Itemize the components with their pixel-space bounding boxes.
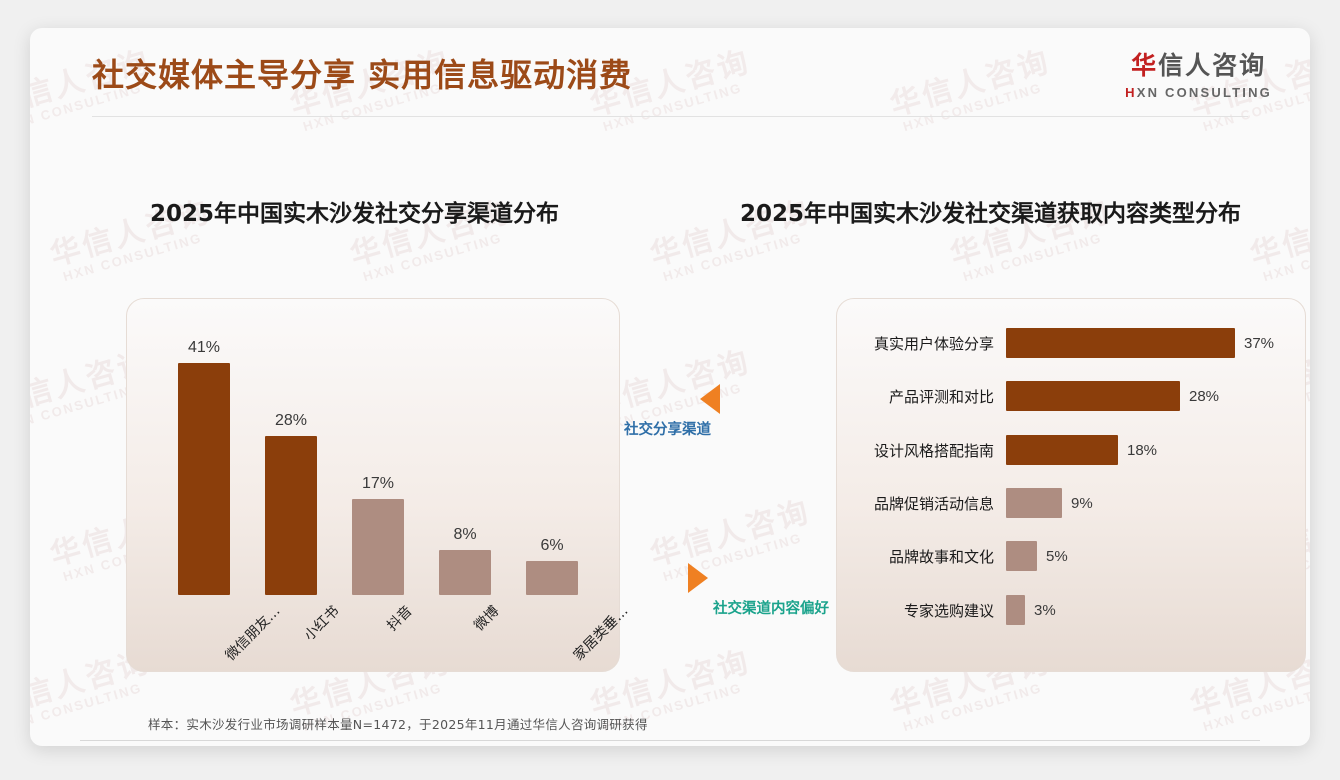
logo-chinese: 华信人咨询 [1125, 46, 1272, 82]
triangle-right-icon [688, 563, 708, 593]
bar-value-label: 5% [1046, 548, 1068, 565]
column-group: 6%家居类垂… [526, 561, 578, 595]
column-bar [352, 499, 404, 595]
header-divider [92, 116, 1248, 117]
column-group: 28%小红书 [265, 436, 317, 595]
horizontal-bar [1006, 595, 1025, 625]
column-group: 41%微信朋友… [178, 363, 230, 595]
bar-value-label: 18% [1127, 442, 1157, 459]
logo-cn-rest: 信人咨询 [1158, 51, 1266, 80]
logo-en-rest: XN CONSULTING [1137, 85, 1272, 100]
horizontal-bar [1006, 381, 1180, 411]
annotation-social-share-channel-label: 社交分享渠道 [618, 418, 828, 439]
bar-category-label: 品牌促销活动信息 [836, 493, 1006, 514]
column-group: 8%微博 [439, 550, 491, 595]
bar-row: 专家选购建议3% [836, 591, 1304, 629]
company-logo: 华信人咨询 HXN CONSULTING [1125, 46, 1272, 100]
logo-en-red: H [1125, 85, 1137, 100]
logo-english: HXN CONSULTING [1125, 85, 1272, 100]
horizontal-bar [1006, 435, 1118, 465]
horizontal-bar [1006, 488, 1062, 518]
bar-row: 真实用户体验分享37% [836, 324, 1304, 362]
annotation-content-preference-label: 社交渠道内容偏好 [618, 597, 833, 618]
column-bar [526, 561, 578, 595]
page-title: 社交媒体主导分享 实用信息驱动消费 [92, 50, 632, 96]
column-category-label: 微信朋友… [221, 601, 285, 665]
bar-value-label: 9% [1071, 495, 1093, 512]
column-bar [178, 363, 230, 595]
watermark-text: 华信人咨询HXN CONSULTING [1247, 196, 1310, 285]
left-column-chart: 41%微信朋友…28%小红书17%抖音8%微博6%家居类垂… [126, 298, 618, 670]
bar-value-label: 37% [1244, 335, 1274, 352]
bar-value-label: 28% [1189, 388, 1219, 405]
right-bar-chart: 真实用户体验分享37%产品评测和对比28%设计风格搭配指南18%品牌促销活动信息… [836, 298, 1304, 670]
annotation-social-share-channel: 社交分享渠道 [618, 384, 828, 439]
horizontal-bar [1006, 541, 1037, 571]
slide: 华信人咨询HXN CONSULTING华信人咨询HXN CONSULTING华信… [30, 28, 1310, 746]
column-category-label: 小红书 [299, 601, 343, 645]
logo-cn-red: 华 [1131, 51, 1158, 80]
left-chart-title: 2025年中国实木沙发社交分享渠道分布 [150, 194, 559, 228]
bar-row: 品牌故事和文化5% [836, 537, 1304, 575]
column-value-label: 17% [318, 475, 438, 493]
footer-divider [80, 740, 1260, 741]
bar-category-label: 设计风格搭配指南 [836, 440, 1006, 461]
column-value-label: 28% [231, 412, 351, 430]
sample-footnote: 样本：实木沙发行业市场调研样本量N=1472，于2025年11月通过华信人咨询调… [148, 714, 648, 733]
bar-value-label: 3% [1034, 602, 1056, 619]
bar-row: 设计风格搭配指南18% [836, 431, 1304, 469]
column-bar [265, 436, 317, 595]
slide-header: 社交媒体主导分享 实用信息驱动消费 华信人咨询 HXN CONSULTING [30, 28, 1310, 128]
annotation-content-preference: 社交渠道内容偏好 [618, 563, 833, 618]
horizontal-bar [1006, 328, 1235, 358]
bar-category-label: 真实用户体验分享 [836, 333, 1006, 354]
bar-category-label: 产品评测和对比 [836, 386, 1006, 407]
triangle-left-icon [700, 384, 720, 414]
bar-category-label: 品牌故事和文化 [836, 546, 1006, 567]
column-category-label: 抖音 [382, 601, 416, 635]
right-chart-title: 2025年中国实木沙发社交渠道获取内容类型分布 [740, 194, 1241, 228]
column-category-label: 微博 [469, 601, 503, 635]
bar-row: 产品评测和对比28% [836, 377, 1304, 415]
column-group: 17%抖音 [352, 499, 404, 595]
column-bar [439, 550, 491, 595]
bar-row: 品牌促销活动信息9% [836, 484, 1304, 522]
column-value-label: 6% [492, 537, 612, 555]
bar-category-label: 专家选购建议 [836, 600, 1006, 621]
column-value-label: 41% [144, 339, 264, 357]
